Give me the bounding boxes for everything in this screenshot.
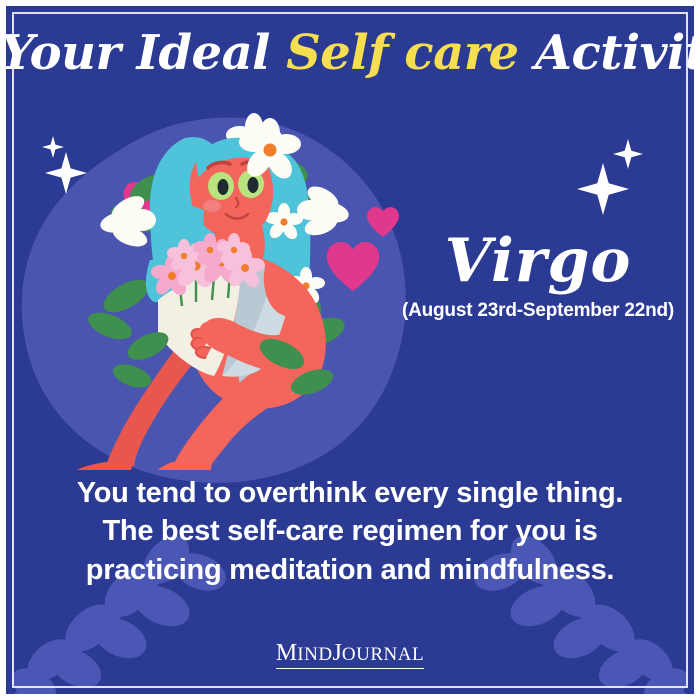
zodiac-sign-name: Virgo: [380, 228, 696, 294]
margin-right: [694, 0, 700, 700]
title-part-highlight: Self care: [286, 25, 518, 81]
woman-with-bouquet-illustration: [30, 110, 430, 470]
zodiac-block: Virgo (August 23rd-September 22nd): [380, 228, 696, 322]
margin-top: [0, 0, 700, 6]
zodiac-card: Your Ideal Self care Activity Virgo (Aug…: [0, 0, 700, 700]
title-part-1: Your Ideal: [0, 25, 286, 81]
logo-rest-ournal: OURNAL: [342, 644, 424, 665]
logo-wordmark: MINDJOURNAL: [276, 640, 424, 669]
zodiac-date-range: (August 23rd-September 22nd): [380, 300, 696, 322]
brand-logo: MINDJOURNAL: [0, 640, 700, 669]
sparkle-large-right-icon: [577, 163, 629, 215]
logo-rest-ind: IND: [297, 644, 332, 665]
logo-cap-m: M: [276, 640, 297, 666]
card-title: Your Ideal Self care Activity: [0, 28, 700, 78]
title-part-3: Activity: [519, 25, 700, 81]
description-text: You tend to overthink every single thing…: [60, 474, 640, 589]
logo-cap-j: J: [333, 640, 342, 666]
margin-bottom: [0, 694, 700, 700]
title-line: Your Ideal Self care Activity: [0, 28, 700, 78]
sparkle-small-right-icon: [613, 139, 643, 169]
margin-left: [0, 0, 6, 700]
